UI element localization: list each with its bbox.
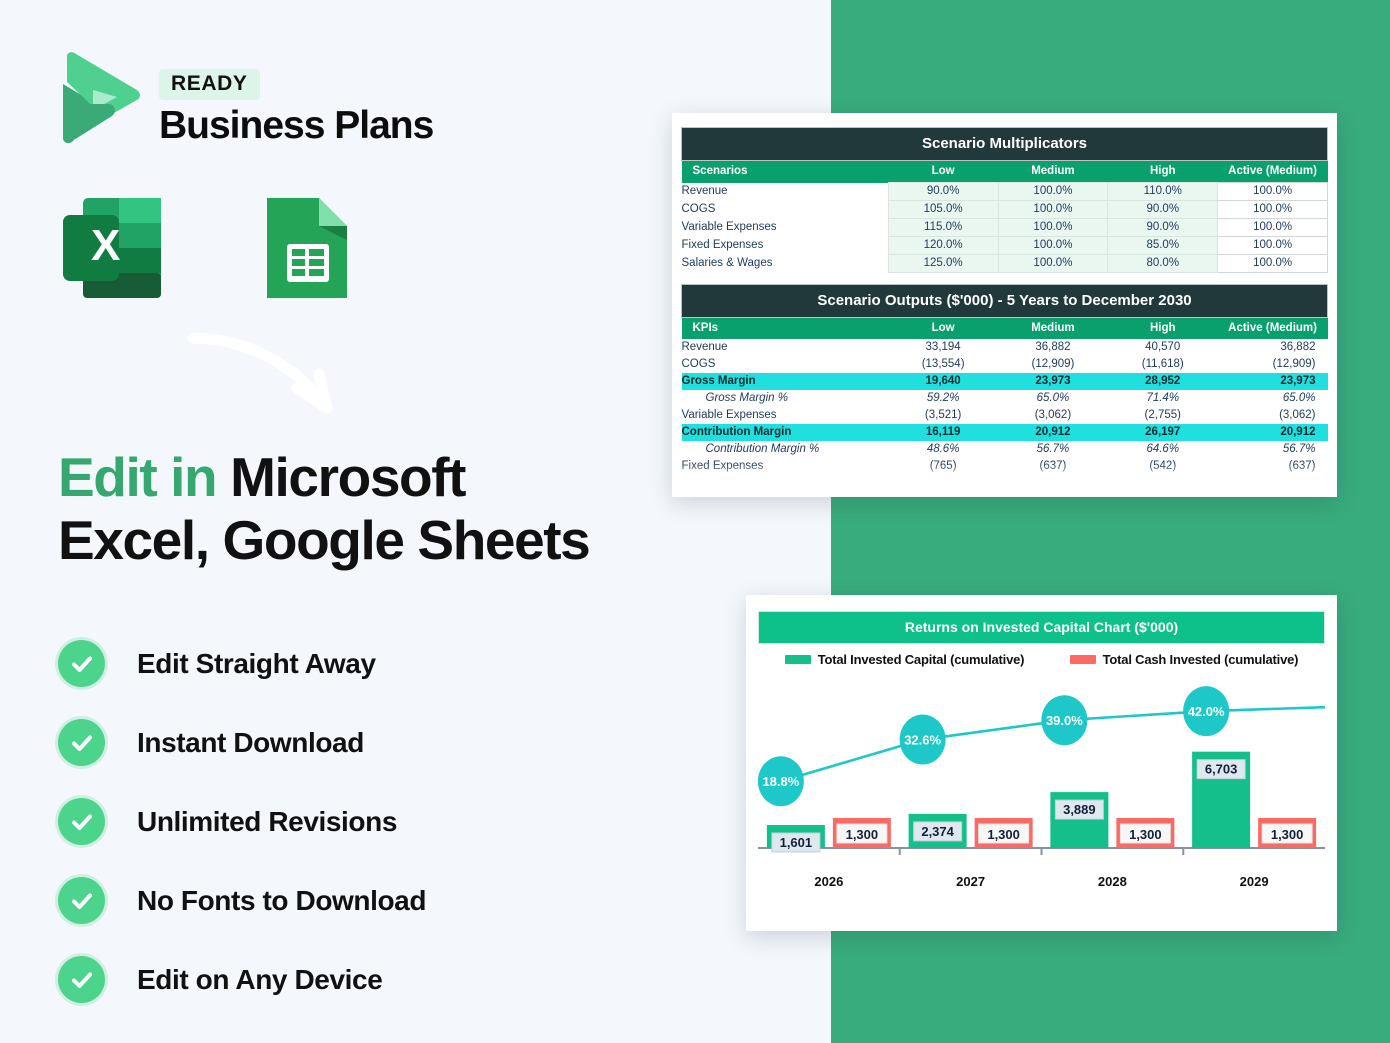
brand-name: Business Plans xyxy=(159,104,433,148)
cell-medium: 23,973 xyxy=(998,373,1108,390)
cell-high[interactable]: 90.0% xyxy=(1108,201,1218,219)
google-sheets-icon xyxy=(249,190,365,306)
svg-text:18.8%: 18.8% xyxy=(762,774,799,789)
cell-active[interactable]: 100.0% xyxy=(1218,255,1328,273)
cell-active[interactable]: 100.0% xyxy=(1218,219,1328,237)
svg-text:2,374: 2,374 xyxy=(921,824,954,839)
cell-active: (12,909) xyxy=(1218,356,1328,373)
cell-medium[interactable]: 100.0% xyxy=(998,201,1108,219)
list-item: Edit Straight Away xyxy=(58,624,426,703)
play-triangle-logo-icon xyxy=(57,52,141,144)
chart-plot-area: 1,6011,3002,3741,3003,8891,3006,7031,300… xyxy=(758,673,1325,889)
table-row: Revenue 90.0% 100.0% 110.0% 100.0% xyxy=(682,183,1328,201)
column-header: Active (Medium) xyxy=(1218,317,1328,339)
table-row: Revenue 33,194 36,882 40,570 36,882 xyxy=(682,339,1328,356)
check-icon xyxy=(58,798,105,845)
cell-medium: (12,909) xyxy=(998,356,1108,373)
cell-low: (3,521) xyxy=(888,407,998,424)
svg-text:1,300: 1,300 xyxy=(846,827,879,842)
table-row: COGS 105.0% 100.0% 90.0% 100.0% xyxy=(682,201,1328,219)
cell-high: (11,618) xyxy=(1108,356,1218,373)
chart-svg: 1,6011,3002,3741,3003,8891,3006,7031,300… xyxy=(758,673,1325,889)
section-title: Scenario Multiplicators xyxy=(682,128,1328,161)
table-header-row: Scenarios Low Medium High Active (Medium… xyxy=(682,161,1328,183)
row-label: Gross Margin % xyxy=(682,390,889,407)
cell-low[interactable]: 105.0% xyxy=(888,201,998,219)
cell-medium: (3,062) xyxy=(998,407,1108,424)
roic-chart-card: Returns on Invested Capital Chart ($'000… xyxy=(746,595,1337,931)
list-item: Edit on Any Device xyxy=(58,940,426,1019)
cell-active[interactable]: 100.0% xyxy=(1218,183,1328,201)
check-icon xyxy=(58,877,105,924)
cell-high: 28,952 xyxy=(1108,373,1218,390)
table-row: Variable Expenses (3,521) (3,062) (2,755… xyxy=(682,407,1328,424)
row-label: Gross Margin xyxy=(682,373,889,390)
svg-text:1,601: 1,601 xyxy=(780,835,813,850)
scenario-table-card: Scenario Multiplicators Scenarios Low Me… xyxy=(672,113,1337,497)
row-label: Revenue xyxy=(682,339,889,356)
svg-text:1,300: 1,300 xyxy=(1129,827,1162,842)
svg-text:3,889: 3,889 xyxy=(1063,802,1096,817)
cell-high: 71.4% xyxy=(1108,390,1218,407)
feature-list: Edit Straight Away Instant Download Unli… xyxy=(58,624,426,1019)
legend-item: Total Cash Invested (cumulative) xyxy=(1070,652,1299,667)
cell-active: 56.7% xyxy=(1218,441,1328,458)
svg-text:X: X xyxy=(91,221,120,270)
svg-text:1,300: 1,300 xyxy=(987,827,1020,842)
cell-medium: 36,882 xyxy=(998,339,1108,356)
svg-text:39.0%: 39.0% xyxy=(1046,713,1083,728)
feature-label: Edit on Any Device xyxy=(137,964,382,996)
table-spacer xyxy=(682,273,1328,284)
chart-legend: Total Invested Capital (cumulative) Tota… xyxy=(758,644,1325,667)
section-title: Scenario Outputs ($'000) - 5 Years to De… xyxy=(682,284,1328,317)
row-label: Fixed Expenses xyxy=(682,237,889,255)
cell-medium: 65.0% xyxy=(998,390,1108,407)
cell-high[interactable]: 85.0% xyxy=(1108,237,1218,255)
table-row: Salaries & Wages 125.0% 100.0% 80.0% 100… xyxy=(682,255,1328,273)
cell-low: 16,119 xyxy=(888,424,998,441)
curved-arrow-icon xyxy=(185,322,345,427)
table-row: Fixed Expenses 120.0% 100.0% 85.0% 100.0… xyxy=(682,237,1328,255)
legend-label: Total Cash Invested (cumulative) xyxy=(1103,652,1299,667)
cell-low[interactable]: 120.0% xyxy=(888,237,998,255)
row-label: Revenue xyxy=(682,183,889,201)
legend-swatch-invested-capital xyxy=(785,655,811,664)
legend-item: Total Invested Capital (cumulative) xyxy=(785,652,1025,667)
cell-medium: 56.7% xyxy=(998,441,1108,458)
column-header: KPIs xyxy=(682,317,889,339)
chart-x-axis: 2026 2027 2028 2029 xyxy=(758,874,1325,889)
svg-text:32.6%: 32.6% xyxy=(904,733,941,748)
table-clip-fade xyxy=(681,463,1328,497)
brand-lockup: READY Business Plans xyxy=(57,52,433,148)
app-icons-row: X xyxy=(55,190,365,306)
cell-high: 26,197 xyxy=(1108,424,1218,441)
table-header-row: KPIs Low Medium High Active (Medium) xyxy=(682,317,1328,339)
cell-high[interactable]: 90.0% xyxy=(1108,219,1218,237)
cell-active: (3,062) xyxy=(1218,407,1328,424)
cell-medium[interactable]: 100.0% xyxy=(998,237,1108,255)
cell-active: 20,912 xyxy=(1218,424,1328,441)
column-header: Low xyxy=(888,317,998,339)
cell-active: 36,882 xyxy=(1218,339,1328,356)
ready-badge: READY xyxy=(159,69,260,100)
feature-label: No Fonts to Download xyxy=(137,885,426,917)
cell-medium[interactable]: 100.0% xyxy=(998,219,1108,237)
scenario-multiplicators-table: Scenario Multiplicators Scenarios Low Me… xyxy=(681,127,1328,284)
table-row: COGS (13,554) (12,909) (11,618) (12,909) xyxy=(682,356,1328,373)
headline-accent: Edit in xyxy=(58,446,216,508)
cell-low[interactable]: 90.0% xyxy=(888,183,998,201)
svg-text:6,703: 6,703 xyxy=(1205,762,1238,777)
x-tick-label: 2027 xyxy=(900,874,1042,889)
cell-low: 19,640 xyxy=(888,373,998,390)
table-row: Contribution Margin % 48.6% 56.7% 64.6% … xyxy=(682,441,1328,458)
row-label: COGS xyxy=(682,201,889,219)
chart-title: Returns on Invested Capital Chart ($'000… xyxy=(758,611,1325,644)
feature-label: Unlimited Revisions xyxy=(137,806,397,838)
cell-high[interactable]: 80.0% xyxy=(1108,255,1218,273)
cell-high: (2,755) xyxy=(1108,407,1218,424)
table-row-total: Contribution Margin 16,119 20,912 26,197… xyxy=(682,424,1328,441)
list-item: Instant Download xyxy=(58,703,426,782)
check-icon xyxy=(58,719,105,766)
scenario-outputs-table: Scenario Outputs ($'000) - 5 Years to De… xyxy=(681,284,1328,475)
cell-high: 40,570 xyxy=(1108,339,1218,356)
list-item: Unlimited Revisions xyxy=(58,782,426,861)
cell-active: 23,973 xyxy=(1218,373,1328,390)
legend-swatch-cash-invested xyxy=(1070,655,1096,664)
row-label: Variable Expenses xyxy=(682,407,889,424)
svg-text:42.0%: 42.0% xyxy=(1188,704,1225,719)
column-header: Medium xyxy=(998,161,1108,183)
cell-medium[interactable]: 100.0% xyxy=(998,183,1108,201)
cell-high: 64.6% xyxy=(1108,441,1218,458)
column-header: High xyxy=(1108,161,1218,183)
row-label: Contribution Margin xyxy=(682,424,889,441)
column-header: Active (Medium) xyxy=(1218,161,1328,183)
row-label: Variable Expenses xyxy=(682,219,889,237)
cell-low[interactable]: 115.0% xyxy=(888,219,998,237)
cell-low: 33,194 xyxy=(888,339,998,356)
legend-label: Total Invested Capital (cumulative) xyxy=(818,652,1025,667)
row-label: Salaries & Wages xyxy=(682,255,889,273)
cell-active[interactable]: 100.0% xyxy=(1218,237,1328,255)
x-tick-label: 2029 xyxy=(1183,874,1325,889)
cell-active: 65.0% xyxy=(1218,390,1328,407)
x-tick-label: 2028 xyxy=(1042,874,1184,889)
cell-medium: 20,912 xyxy=(998,424,1108,441)
table-row-total: Gross Margin 19,640 23,973 28,952 23,973 xyxy=(682,373,1328,390)
headline-line2: Excel, Google Sheets xyxy=(58,509,589,572)
cell-low[interactable]: 125.0% xyxy=(888,255,998,273)
row-label: Contribution Margin % xyxy=(682,441,889,458)
table-row: Gross Margin % 59.2% 65.0% 71.4% 65.0% xyxy=(682,390,1328,407)
cell-low: 59.2% xyxy=(888,390,998,407)
check-icon xyxy=(58,956,105,1003)
column-header: Low xyxy=(888,161,998,183)
cell-active[interactable]: 100.0% xyxy=(1218,201,1328,219)
feature-label: Edit Straight Away xyxy=(137,648,376,680)
cell-low: (13,554) xyxy=(888,356,998,373)
feature-label: Instant Download xyxy=(137,727,364,759)
list-item: No Fonts to Download xyxy=(58,861,426,940)
table-row: Variable Expenses 115.0% 100.0% 90.0% 10… xyxy=(682,219,1328,237)
page-title: Edit in Microsoft Excel, Google Sheets xyxy=(58,446,589,573)
row-label: COGS xyxy=(682,356,889,373)
check-icon xyxy=(58,640,105,687)
cell-medium[interactable]: 100.0% xyxy=(998,255,1108,273)
column-header: High xyxy=(1108,317,1218,339)
microsoft-excel-icon: X xyxy=(55,190,171,306)
svg-text:1,300: 1,300 xyxy=(1271,827,1304,842)
cell-low: 48.6% xyxy=(888,441,998,458)
cell-high[interactable]: 110.0% xyxy=(1108,183,1218,201)
headline-rest: Microsoft xyxy=(216,446,465,508)
column-header: Medium xyxy=(998,317,1108,339)
column-header: Scenarios xyxy=(682,161,889,183)
x-tick-label: 2026 xyxy=(758,874,900,889)
